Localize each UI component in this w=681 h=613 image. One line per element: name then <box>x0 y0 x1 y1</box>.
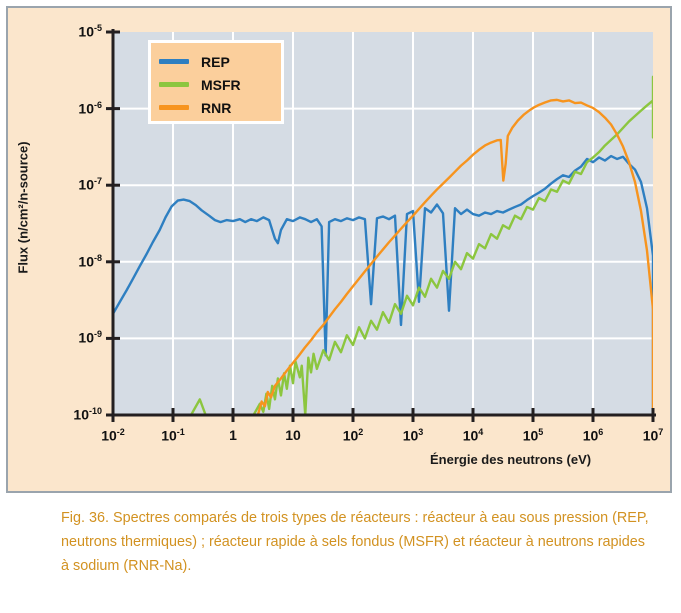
x-tick-label-0: 10-2 <box>90 427 136 444</box>
y-tick-label-2: 10-7 <box>42 176 102 193</box>
x-tick-label-6: 104 <box>450 427 496 444</box>
x-axis-label: Énergie des neutrons (eV) <box>430 452 591 467</box>
legend-swatch-msfr <box>159 82 189 87</box>
legend-item-rep[interactable]: REP <box>159 50 281 73</box>
y-axis-label: Flux (n/cm²/n-source) <box>16 108 31 308</box>
x-tick-label-4: 102 <box>330 427 376 444</box>
x-tick-label-7: 105 <box>510 427 556 444</box>
figure-caption: Fig. 36. Spectres comparés de trois type… <box>61 506 651 578</box>
chart-legend: REP MSFR RNR <box>148 40 284 124</box>
x-tick-label-5: 103 <box>390 427 436 444</box>
legend-label-msfr: MSFR <box>201 77 241 93</box>
x-tick-label-2: 1 <box>210 427 256 443</box>
y-tick-label-3: 10-8 <box>42 253 102 270</box>
x-tick-label-1: 10-1 <box>150 427 196 444</box>
y-tick-label-4: 10-9 <box>42 329 102 346</box>
legend-label-rep: REP <box>201 54 230 70</box>
x-tick-label-8: 106 <box>570 427 616 444</box>
spectrum-chart <box>0 0 681 500</box>
legend-item-msfr[interactable]: MSFR <box>159 73 281 96</box>
x-tick-label-9: 107 <box>630 427 676 444</box>
legend-swatch-rnr <box>159 105 189 110</box>
y-tick-label-1: 10-6 <box>42 100 102 117</box>
legend-label-rnr: RNR <box>201 100 231 116</box>
legend-item-rnr[interactable]: RNR <box>159 96 281 119</box>
figure-root: 10-510-610-710-810-910-10 10-210-1110102… <box>0 0 681 613</box>
y-tick-label-5: 10-10 <box>42 406 102 423</box>
x-tick-label-3: 10 <box>270 427 316 443</box>
y-tick-label-0: 10-5 <box>42 23 102 40</box>
legend-swatch-rep <box>159 59 189 64</box>
